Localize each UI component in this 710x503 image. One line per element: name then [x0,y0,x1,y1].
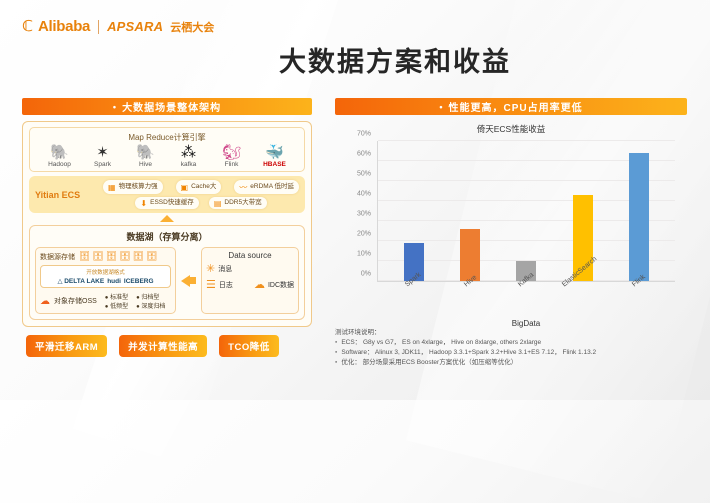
logo-hadoop: 🐘 Hadoop [38,145,81,168]
logo-flink: 🐿 Flink [210,145,253,168]
bullet-dot-icon: • [113,102,117,112]
storage-label: 数据源存储 [40,252,75,262]
data-lake-title: 数据湖（存算分离） [35,230,299,243]
logo-hbase: 🐳 HBASE [253,145,296,168]
pill-physical-core: ▦ 物理核算力强 [103,180,163,194]
test-environment-notes: 测试环境说明： ▪ ECS： G8y vs G7， ES on 4xlarge，… [335,326,675,367]
oss-tier-item: ● 标准型 [105,292,128,301]
database-icon: 🗄 [119,251,130,262]
yitian-ecs-box: Yitian ECS ▦ 物理核算力强 ▣ Cache大 〰 [29,176,305,213]
tag-smooth-migration-arm[interactable]: 平滑迁移ARM [26,335,107,357]
open-lake-format-title: 开放数据湖格式 [44,268,167,276]
chart-bars [378,141,675,281]
y-tick-label: 0% [361,271,371,278]
database-icon: 🗄 [92,251,103,262]
upward-arrow-connector [29,215,305,222]
arrow-left-stem [190,277,196,284]
data-source-message-label: 消息 [218,264,232,274]
y-tick-label: 70% [357,131,371,138]
brand-logo: ℂ Alibaba APSARA 云栖大会 [22,18,214,35]
pill-erdma: 〰 eRDMA 低时延 [234,180,299,194]
bar-column [501,141,552,281]
database-icon: 🗄 [133,251,144,262]
right-panel-header: • 性能更高，CPU占用率更低 [335,98,687,115]
x-tick-column: Flink [613,283,664,290]
benefit-tag-row: 平滑迁移ARM 并发计算性能高 TCO降低 [22,335,312,357]
hadoop-icon: 🐘 [50,145,69,160]
database-icon: 🗄 [146,251,157,262]
pill-essd-label: ESSD快速缓存 [150,200,194,207]
logo-spark: ✶ Spark [81,145,124,168]
x-tick-column: Hive [444,283,495,290]
apsara-cn-label: 云栖大会 [170,19,214,35]
oss-row: ☁ 对象存储OSS ● 标准型 ● 归档型 ● 低频型 ● 深度归档 [40,292,171,310]
oss-tier-item: ● 归档型 [136,292,165,301]
data-source-message: ✳ 消息 [206,262,294,275]
yitian-ecs-label: Yitian ECS [35,190,97,200]
y-tick-label: 50% [357,171,371,178]
performance-chart: 倚天ECS性能收益 0%10%20%30%40%50%60%70% SparkH… [335,123,687,318]
note-bullet-icon: ▪ [335,358,337,368]
pill-physical-core-label: 物理核算力强 [119,184,158,191]
pill-cache: ▣ Cache大 [176,180,222,194]
bar-column [614,141,665,281]
hudi-logo: hudi [107,278,121,285]
data-source-log-label: 日志 [219,280,233,290]
bar-flink[interactable] [629,153,649,281]
bar-column [557,141,608,281]
kafka-label: kafka [181,161,197,168]
oss-tier-item: ● 低频型 [105,301,128,310]
x-tick-column: ElasticSearch [557,283,608,290]
flink-label: Flink [225,161,239,168]
note-text: ECS： G8y vs G7， ES on 4xlarge， Hive on 8… [341,338,541,348]
arrow-up-icon [160,215,174,222]
note-bullet-icon: ▪ [335,348,337,358]
data-source-idc: ☁ IDC数据 [254,278,294,291]
data-storage-box: 数据源存储 🗄 🗄 🗄 🗄 🗄 🗄 开放数据湖格式 [35,247,176,314]
network-icon: 〰 [239,182,247,193]
engine-logo-row: 🐘 Hadoop ✶ Spark 🐘 Hive ⁂ kafka [34,145,300,168]
brand-divider [98,20,99,34]
bullet-dot-icon: • [439,102,443,112]
logo-hive: 🐘 Hive [124,145,167,168]
ecs-pill-row-2: ⬇ ESSD快速缓存 ▤ DDR5大带宽 [103,197,299,209]
database-icon: 🗄 [106,251,117,262]
data-source-idc-label: IDC数据 [268,280,294,290]
tag-tco-reduction[interactable]: TCO降低 [219,335,279,357]
page-title: 大数据方案和收益 [0,40,710,79]
leftward-arrow-connector [181,247,196,314]
chart-x-tick-labels: SparkHiveKafkaElasticSearchFlink [377,283,675,290]
slide-root: ℂ Alibaba APSARA 云栖大会 大数据方案和收益 • 大数据场景整体… [0,0,710,400]
y-tick-label: 30% [357,211,371,218]
storage-header: 数据源存储 🗄 🗄 🗄 🗄 🗄 🗄 [40,251,171,262]
left-panel: • 大数据场景整体架构 Map Reduce计算引擎 🐘 Hadoop ✶ Sp… [22,98,312,357]
pill-erdma-label: eRDMA 低时延 [250,184,294,191]
iceberg-logo: ICEBERG [124,278,154,285]
hive-icon: 🐘 [136,145,155,160]
open-lake-format-logos: △ DELTA LAKE hudi ICEBERG [44,277,167,285]
mapreduce-title: Map Reduce计算引擎 [34,132,300,143]
note-item-ecs: ▪ ECS： G8y vs G7， ES on 4xlarge， Hive on… [335,338,675,348]
notes-title: 测试环境说明： [335,326,675,336]
pill-cache-label: Cache大 [191,184,216,191]
data-lake-body: 数据源存储 🗄 🗄 🗄 🗄 🗄 🗄 开放数据湖格式 [35,247,299,314]
apsara-wordmark: APSARA [107,19,163,34]
x-tick-column: Spark [388,283,439,290]
log-icon: ☰ [206,278,216,291]
ecs-pill-row-1: ▦ 物理核算力强 ▣ Cache大 〰 eRDMA 低时延 [103,180,299,194]
message-icon: ✳ [206,262,215,275]
disk-icon: ⬇ [140,199,147,208]
spark-icon: ✶ [96,145,109,160]
chip-icon: ▦ [108,183,116,192]
note-text: Software： Alinux 3, JDK11， Hadoop 3.3.1+… [341,348,596,358]
oss-tier-list: ● 标准型 ● 归档型 ● 低频型 ● 深度归档 [105,292,166,310]
bar-column [389,141,440,281]
kafka-icon: ⁂ [181,145,196,160]
y-tick-label: 10% [357,251,371,258]
pill-ddr5-label: DDR5大带宽 [224,200,261,207]
flink-icon: 🐿 [222,145,241,160]
pill-essd: ⬇ ESSD快速缓存 [135,197,198,209]
x-tick-column: Kafka [501,283,552,290]
data-lake-box: 数据湖（存算分离） 数据源存储 🗄 🗄 🗄 🗄 🗄 🗄 [29,225,305,320]
data-source-title: Data source [206,251,294,260]
cache-icon: ▣ [181,183,189,192]
spark-label: Spark [94,161,111,168]
chart-plot-area [377,141,675,282]
y-tick-label: 40% [357,191,371,198]
delta-lake-logo: △ DELTA LAKE [57,277,104,285]
idc-cloud-icon: ☁ [254,278,265,291]
note-bullet-icon: ▪ [335,338,337,348]
oss-cloud-icon: ☁ [40,296,50,307]
hive-label: Hive [139,161,152,168]
note-item-software: ▪ Software： Alinux 3, JDK11， Hadoop 3.3.… [335,348,675,358]
database-icon: 🗄 [79,251,90,262]
right-panel-header-label: 性能更高，CPU占用率更低 [449,99,583,114]
note-item-optimization: ▪ 优化： 部分场景采用ECS Booster方案优化（如压缩等优化） [335,358,675,368]
data-source-bottom-row: ☰ 日志 ☁ IDC数据 [206,276,294,291]
logo-kafka: ⁂ kafka [167,145,210,168]
alibaba-wordmark: Alibaba [38,18,90,35]
bar-column [445,141,496,281]
ecs-feature-pills: ▦ 物理核算力强 ▣ Cache大 〰 eRDMA 低时延 [103,180,299,209]
tag-concurrent-performance[interactable]: 并发计算性能高 [119,335,207,357]
hadoop-label: Hadoop [48,161,71,168]
hbase-label: HBASE [263,161,286,168]
chart-y-axis: 0%10%20%30%40%50%60%70% [335,141,375,281]
y-tick-label: 20% [357,231,371,238]
oss-tier-item: ● 深度归档 [136,301,165,310]
note-text: 优化： 部分场景采用ECS Booster方案优化（如压缩等优化） [341,358,517,368]
right-panel: • 性能更高，CPU占用率更低 倚天ECS性能收益 0%10%20%30%40%… [335,98,687,318]
hbase-icon: 🐳 [265,145,284,160]
mapreduce-box: Map Reduce计算引擎 🐘 Hadoop ✶ Spark 🐘 Hive [29,127,305,172]
oss-label: 对象存储OSS [54,296,97,306]
arrow-left-icon [181,275,190,287]
left-panel-header: • 大数据场景整体架构 [22,98,312,115]
y-tick-label: 60% [357,151,371,158]
chart-title: 倚天ECS性能收益 [335,123,687,135]
open-lake-format-box: 开放数据湖格式 △ DELTA LAKE hudi ICEBERG [40,265,171,288]
database-icon-group: 🗄 🗄 🗄 🗄 🗄 🗄 [79,251,158,262]
bar-hive[interactable] [460,229,480,281]
data-source-log: ☰ 日志 [206,278,233,291]
data-source-box: Data source ✳ 消息 ☰ 日志 ☁ [201,247,299,314]
alibaba-mark-icon: ℂ [22,19,33,34]
memory-icon: ▤ [214,199,222,208]
left-panel-header-label: 大数据场景整体架构 [122,99,221,114]
architecture-diagram: Map Reduce计算引擎 🐘 Hadoop ✶ Spark 🐘 Hive [22,121,312,327]
pill-ddr5: ▤ DDR5大带宽 [209,197,267,209]
